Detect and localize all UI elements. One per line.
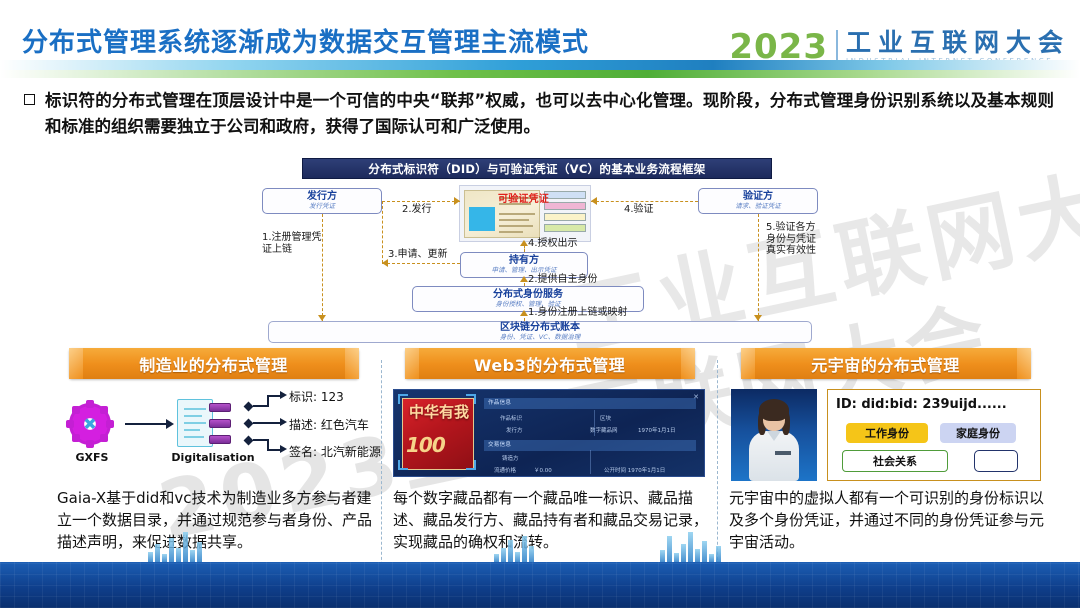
chip-3 [544, 213, 586, 221]
connector-vc-to-verifier [591, 201, 698, 202]
flow-label-step4-verify: 4.验证 [624, 204, 654, 216]
bullet-text: 标识符的分布式管理在顶层设计中是一个可信的中央“联邦”权威，也可以去中心化管理。… [45, 88, 1054, 139]
frame-corner-bl [398, 460, 408, 470]
flow-label-step5: 5.验证各方身份与凭证真实有效性 [766, 222, 818, 257]
panel-manufacturing: 制造业的分布式管理 ✖ GXFS [47, 348, 380, 588]
record-bar-3 [209, 435, 231, 444]
flow-label-step1: 1.注册管理凭证上链 [262, 232, 324, 255]
connector-issuer-to-ledger [322, 214, 323, 321]
bullet-block: 标识符的分布式管理在顶层设计中是一个可信的中央“联邦”权威，也可以去中心化管理。… [24, 88, 1054, 139]
diagram-node-issuer: 发行方 发行凭证 [262, 188, 382, 214]
frame-corner-br [466, 460, 476, 470]
diagram-node-blockchain-ledger: 区块链分布式账本 身份、凭证、VC、数据治理 [268, 321, 812, 343]
document-icon [177, 399, 213, 447]
nft-row-date-2: 1970年1月1日 [638, 426, 676, 434]
field-description: 描述: 红色汽车 [289, 416, 369, 433]
flow-label-step1-chain: 1.身份注册上链或映射 [528, 307, 628, 319]
ledger-subtitle: 身份、凭证、VC、数据治理 [500, 334, 581, 342]
header-rule-green [0, 70, 1080, 78]
record-bar-2 [209, 419, 231, 428]
issuer-title: 发行方 [307, 191, 337, 202]
connector-holder-to-issuer [382, 263, 460, 264]
connector-verifier-to-ledger [758, 214, 759, 321]
chip-4 [544, 224, 586, 232]
gxfs-label: GXFS [65, 451, 119, 464]
panel-graphic-gxfs: ✖ GXFS Digitalisation [47, 387, 380, 479]
square-bullet-icon [24, 94, 35, 105]
avatar-hair-top [759, 399, 789, 421]
connector-issuer-down [382, 201, 383, 263]
gxfs-gear-icon: ✖ [69, 403, 111, 445]
panel-header-web3: Web3的分布式管理 [405, 348, 695, 379]
nft-artwork-image: 中华有我 100 [402, 398, 474, 470]
nft-artwork-title: 中华有我 [409, 405, 469, 420]
badge-empty-slot[interactable] [974, 450, 1018, 472]
virtual-human-avatar [731, 389, 817, 481]
logo-name-cn: 工业互联网大会 [846, 30, 1070, 56]
nft-row-val-1: 区块 [600, 414, 611, 422]
nft-row-key-2: 发行方 [506, 426, 523, 434]
chip-1 [544, 191, 586, 199]
panel-separator-1 [381, 360, 382, 575]
field-signature: 签名: 北汽新能源 [289, 443, 381, 460]
kv-arrow-2 [280, 418, 287, 426]
cityscape-decoration-left [148, 528, 202, 562]
arrow-verifier-to-ledger [754, 315, 762, 321]
chip-2 [544, 202, 586, 210]
nft-section-artwork: 作品信息 [484, 398, 696, 409]
page-title: 分布式管理系统逐渐成为数据交互管理主流模式 [22, 22, 589, 59]
identity-id-line: ID: did:bid: 239uijd...... [836, 397, 1007, 412]
gxfs-tools-icon: ✖ [83, 415, 96, 434]
connector-issuer-to-vc [382, 201, 460, 202]
arrow-issuer-to-vc [454, 197, 460, 205]
kv-marker-2 [244, 419, 254, 429]
arrow-ledger-to-service [520, 310, 528, 316]
kv-arrow-3 [280, 445, 287, 453]
kv-marker-3 [244, 436, 254, 446]
flow-label-step2: 2.发行 [402, 204, 432, 216]
cityscape-decoration-mid [494, 528, 534, 562]
cityscape-decoration-right [660, 528, 721, 562]
arrow-vc-to-holder [520, 240, 528, 246]
panel-heading-label: 元宇宙的分布式管理 [811, 352, 960, 376]
nft-detail-screenshot: 中华有我 100 ✕ 作品信息 作品标识 区块 发行方 数字藏品网 1970年1… [393, 389, 705, 477]
verifier-title: 验证方 [743, 191, 773, 202]
slide-header: 分布式管理系统逐渐成为数据交互管理主流模式 2023 中国·苏州 2023年11… [0, 0, 1080, 84]
holder-title: 持有方 [509, 255, 539, 266]
footer-band [0, 562, 1080, 608]
arrow-issuer-to-ledger [318, 315, 326, 321]
did-vc-flow-diagram: 分布式标识符（DID）与可验证凭证（VC）的基本业务流程框架 发行方 发行凭证 … [262, 158, 818, 340]
panel-heading-label: Web3的分布式管理 [474, 352, 626, 376]
identity-card: ID: did:bid: 239uijd...... 工作身份 家庭身份 社会关… [827, 389, 1041, 481]
ledger-title: 区块链分布式账本 [500, 322, 580, 333]
flow-label-step2-identity: 2.提供自主身份 [528, 274, 598, 286]
nft-row-date-4: 公开时间 1970年1月1日 [604, 466, 665, 474]
record-bar-1 [209, 403, 231, 412]
arrow-service-to-holder [520, 276, 528, 282]
gxfs-flow-arrow-icon [125, 423, 167, 425]
diagram-node-verifier: 验证方 请求、验证凭证 [698, 188, 818, 214]
issuer-subtitle: 发行凭证 [309, 203, 335, 211]
nft-row-key-3: 铸造方 [502, 454, 519, 462]
credential-attribute-chips [544, 191, 586, 235]
panel-header-manufacturing: 制造业的分布式管理 [69, 348, 359, 379]
frame-corner-tr [466, 394, 476, 404]
bullet-row: 标识符的分布式管理在顶层设计中是一个可信的中央“联邦”权威，也可以去中心化管理。… [24, 88, 1054, 139]
nft-row-key-1: 作品标识 [500, 414, 522, 422]
nft-row-val-4: ￥0.00 [534, 466, 552, 474]
field-identifier: 标识: 123 [289, 388, 344, 405]
verifier-subtitle: 请求、验证凭证 [735, 203, 781, 211]
kv-arrow-1 [280, 391, 287, 399]
nft-row-key-4: 流通价格 [494, 466, 516, 474]
panel-metaverse: 元宇宙的分布式管理 ID: did:bid: 239uijd...... 工作身… [719, 348, 1052, 588]
panel-header-metaverse: 元宇宙的分布式管理 [741, 348, 1031, 379]
badge-family-identity[interactable]: 家庭身份 [940, 423, 1016, 443]
panel-description-manufacturing: Gaia-X基于did和vc技术为制造业多方参与者建立一个数据目录，并通过规范参… [57, 488, 372, 553]
service-title: 分布式身份服务 [493, 289, 563, 300]
kv-marker-1 [244, 402, 254, 412]
panel-description-metaverse: 元宇宙中的虚拟人都有一个可识别的身份标识以及多个身份凭证，并通过不同的身份凭证参… [729, 488, 1044, 553]
badge-social-relation[interactable]: 社会关系 [842, 450, 948, 472]
header-rule-blue [0, 60, 1080, 70]
nft-artwork-number: 100 [406, 433, 445, 457]
digitalisation-label: Digitalisation [163, 451, 263, 464]
arrow-vc-to-verifier [591, 197, 597, 205]
frame-corner-tl [398, 394, 408, 404]
panel-graphic-nft: 中华有我 100 ✕ 作品信息 作品标识 区块 发行方 数字藏品网 1970年1… [383, 387, 716, 479]
diagram-title: 分布式标识符（DID）与可验证凭证（VC）的基本业务流程框架 [302, 158, 772, 179]
avatar-badge [775, 451, 791, 455]
panel-graphic-metaverse: ID: did:bid: 239uijd...... 工作身份 家庭身份 社会关… [719, 387, 1052, 479]
badge-work-identity[interactable]: 工作身份 [846, 423, 928, 443]
flow-label-step4-auth: 4.授权出示 [528, 238, 578, 250]
flow-label-step3: 3.申请、更新 [388, 249, 448, 261]
panel-heading-label: 制造业的分布式管理 [139, 352, 288, 376]
vc-card-label: 可验证凭证 [498, 190, 549, 205]
verifiable-credential-card: 可验证凭证 [459, 185, 591, 242]
logo-year-text: 2023 [729, 30, 828, 64]
